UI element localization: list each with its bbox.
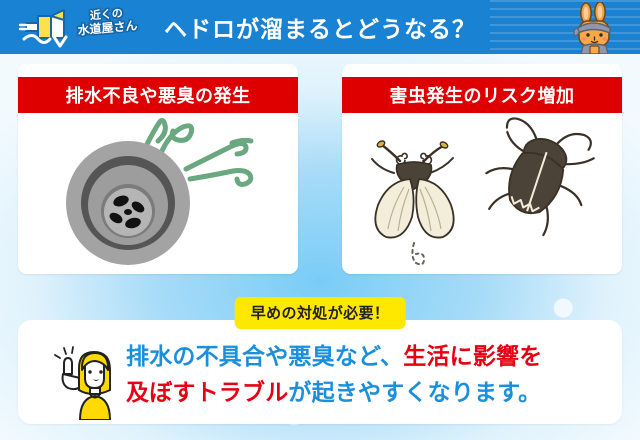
woman-pointing-up-icon — [46, 344, 122, 420]
mascot — [566, 2, 622, 54]
insects-drain-fly-and-cockroach-icon — [342, 113, 622, 274]
card-drain-problem: 排水不良や悪臭の発生 — [18, 64, 298, 274]
page-header: 近くの 水道屋さん ヘドロが溜まるとどうなる？ — [0, 0, 640, 54]
infographic-canvas: 近くの 水道屋さん ヘドロが溜まるとどうなる？ — [0, 0, 640, 440]
urgency-ribbon-text: 早めの対処が必要！ — [251, 305, 390, 322]
drain-fly — [372, 140, 454, 265]
card-header-2: 害虫発生のリスク増加 — [342, 77, 622, 113]
summary-line2-segment1: 及ぼすトラブル — [126, 379, 288, 405]
urgency-ribbon: 早めの対処が必要！ — [235, 297, 406, 329]
summary-panel: 排水の不具合や悪臭など、生活に影響を 及ぼすトラブルが起きやすくなります。 — [18, 320, 622, 424]
page-title: ヘドロが溜まるとどうなる？ — [0, 0, 640, 54]
clogged-drain-with-odor-icon — [18, 113, 298, 274]
summary-line1-segment1: 排水の不具合や悪臭など、 — [126, 343, 403, 369]
cockroach — [473, 113, 606, 244]
card-body-2 — [342, 113, 622, 274]
card-header-1: 排水不良や悪臭の発生 — [18, 77, 298, 113]
woman-pointing-up — [46, 344, 122, 420]
rabbit-worker-mascot-icon — [566, 2, 622, 54]
card-insect-risk: 害虫発生のリスク増加 — [342, 64, 622, 274]
summary-line2-segment2: が起きやすくなります。 — [288, 379, 541, 405]
card-body-1 — [18, 113, 298, 274]
card-title-1: 排水不良や悪臭の発生 — [66, 82, 251, 108]
summary-text: 排水の不具合や悪臭など、生活に影響を 及ぼすトラブルが起きやすくなります。 — [126, 338, 616, 410]
summary-line1-segment2: 生活に影響を — [403, 343, 542, 369]
card-title-2: 害虫発生のリスク増加 — [390, 82, 575, 108]
summary-text-line1: 排水の不具合や悪臭など、生活に影響を — [126, 338, 616, 374]
summary-text-line2: 及ぼすトラブルが起きやすくなります。 — [126, 374, 616, 410]
